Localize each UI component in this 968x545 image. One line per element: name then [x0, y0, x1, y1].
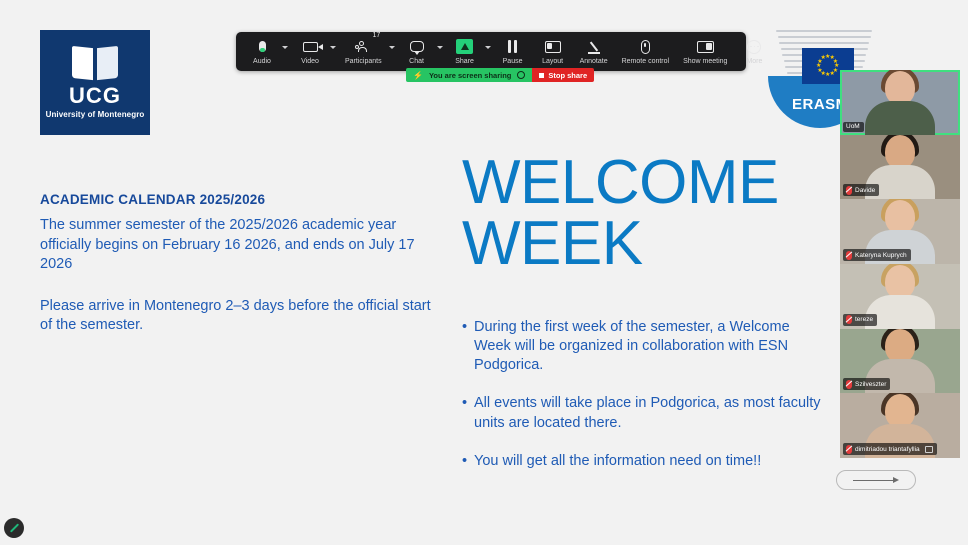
list-item: • You will get all the information need …	[462, 452, 822, 471]
chat-icon	[410, 38, 424, 55]
participant-name-label: Kateryna Kuprych	[843, 249, 911, 261]
toolbar-button-label: Participants	[345, 58, 382, 65]
chevron-down-icon[interactable]	[485, 46, 491, 49]
arrow-right-icon	[853, 477, 899, 484]
participant-name-text: Szilveszter	[855, 381, 886, 388]
muted-microphone-icon	[846, 186, 852, 195]
participant-video-tile[interactable]: dimitriadou triantafyllia	[840, 393, 960, 458]
open-book-icon	[72, 47, 118, 79]
toolbar-button-share[interactable]: Share	[447, 38, 483, 65]
screen-sharing-status-bar: ⚡ You are screen sharing Stop share	[406, 68, 594, 82]
pause-icon	[508, 38, 518, 55]
pencil-icon	[9, 523, 18, 532]
participant-name-text: UoM	[846, 123, 860, 130]
calendar-paragraph-2: Please arrive in Montenegro 2–3 days bef…	[40, 297, 440, 336]
participant-video-strip: UoMDavideKateryna KuprychterezeSzilveszt…	[840, 70, 960, 458]
bullet-marker: •	[462, 452, 474, 471]
ucg-logo: UCG University of Montenegro	[40, 30, 150, 135]
chevron-down-icon[interactable]	[389, 46, 395, 49]
gear-icon[interactable]	[517, 71, 525, 79]
toolbar-button-remote-control[interactable]: Remote control	[617, 38, 674, 65]
toolbar-button-label: Video	[301, 58, 319, 65]
annotate-pencil-icon	[587, 38, 601, 55]
microphone-icon	[259, 38, 266, 55]
chevron-down-icon[interactable]	[330, 46, 336, 49]
sharing-label: You are screen sharing	[429, 71, 511, 80]
toolbar-button-label: Share	[455, 58, 474, 65]
muted-microphone-icon	[846, 251, 852, 260]
toolbar-button-video[interactable]: Video	[292, 38, 328, 65]
calendar-paragraph-1: The summer semester of the 2025/2026 aca…	[40, 216, 440, 275]
bullet-text: During the first week of the semester, a…	[474, 318, 822, 375]
participant-name-label: Szilveszter	[843, 378, 890, 390]
chevron-down-icon[interactable]	[437, 46, 443, 49]
stop-square-icon	[539, 73, 544, 78]
toolbar-button-label: Chat	[409, 58, 424, 65]
show-meeting-icon	[697, 38, 714, 55]
participants-count-badge: 17	[372, 32, 380, 39]
bullet-marker: •	[462, 394, 474, 432]
bullet-text: All events will take place in Podgorica,…	[474, 394, 822, 432]
muted-microphone-icon	[846, 445, 852, 454]
participant-name-text: Kateryna Kuprych	[855, 252, 907, 259]
bullet-text: You will get all the information need on…	[474, 452, 822, 471]
ucg-subtitle: University of Montenegro	[46, 110, 145, 119]
participant-name-label: dimitriadou triantafyllia	[843, 443, 937, 455]
bullet-marker: •	[462, 318, 474, 375]
participant-name-label: tereze	[843, 314, 877, 326]
calendar-title: ACADEMIC CALENDAR 2025/2026	[40, 192, 440, 207]
layout-icon	[545, 38, 561, 55]
stop-share-label: Stop share	[548, 71, 587, 80]
toolbar-button-label: Layout	[542, 58, 563, 65]
toolbar-button-pause[interactable]: Pause	[495, 38, 531, 65]
toolbar-button-audio[interactable]: Audio	[244, 38, 280, 65]
share-screen-icon	[456, 38, 473, 55]
toolbar-button-label: Audio	[253, 58, 271, 65]
participant-name-label: UoM	[843, 122, 864, 132]
participant-name-label: Davide	[843, 184, 879, 196]
academic-calendar-block: ACADEMIC CALENDAR 2025/2026 The summer s…	[40, 192, 440, 336]
toolbar-button-more[interactable]: More	[736, 38, 772, 65]
zoom-meeting-toolbar: AudioVideo17ParticipantsChatSharePauseLa…	[236, 32, 746, 71]
toolbar-button-label: Show meeting	[683, 58, 727, 65]
participant-name-text: Davide	[855, 187, 875, 194]
participant-video-tile[interactable]: UoM	[840, 70, 960, 135]
toolbar-button-participants[interactable]: 17Participants	[340, 38, 387, 65]
toolbar-button-layout[interactable]: Layout	[535, 38, 571, 65]
remote-control-icon	[641, 38, 650, 55]
list-item: • During the first week of the semester,…	[462, 318, 822, 375]
participant-video-tile[interactable]: Kateryna Kuprych	[840, 199, 960, 264]
toolbar-button-label: Pause	[503, 58, 523, 65]
bolt-icon: ⚡	[413, 71, 423, 80]
participant-name-text: dimitriadou triantafyllia	[855, 446, 920, 453]
ucg-acronym: UCG	[69, 85, 121, 107]
annotate-floating-button[interactable]	[4, 518, 24, 538]
list-item: • All events will take place in Podgoric…	[462, 394, 822, 432]
participants-icon: 17	[355, 38, 371, 55]
toolbar-button-annotate[interactable]: Annotate	[575, 38, 613, 65]
participant-video-tile[interactable]: Szilveszter	[840, 329, 960, 394]
participant-video-tile[interactable]: tereze	[840, 264, 960, 329]
more-ellipsis-icon	[747, 38, 761, 55]
toolbar-button-label: Remote control	[622, 58, 669, 65]
sharing-indicator: ⚡ You are screen sharing	[406, 68, 532, 82]
muted-microphone-icon	[846, 380, 852, 389]
participant-name-text: tereze	[855, 316, 873, 323]
toolbar-button-show-meeting[interactable]: Show meeting	[678, 38, 732, 65]
stop-share-button[interactable]: Stop share	[532, 68, 594, 82]
next-slide-button[interactable]	[836, 470, 916, 490]
bullet-list: • During the first week of the semester,…	[462, 318, 822, 490]
toolbar-button-label: More	[746, 58, 762, 65]
participant-video-tile[interactable]: Davide	[840, 135, 960, 200]
muted-microphone-icon	[846, 315, 852, 324]
toolbar-button-chat[interactable]: Chat	[399, 38, 435, 65]
camera-icon	[303, 38, 318, 55]
video-status-icon	[925, 446, 933, 453]
chevron-down-icon[interactable]	[282, 46, 288, 49]
toolbar-button-label: Annotate	[580, 58, 608, 65]
page-title: WELCOME WEEK	[462, 152, 862, 275]
